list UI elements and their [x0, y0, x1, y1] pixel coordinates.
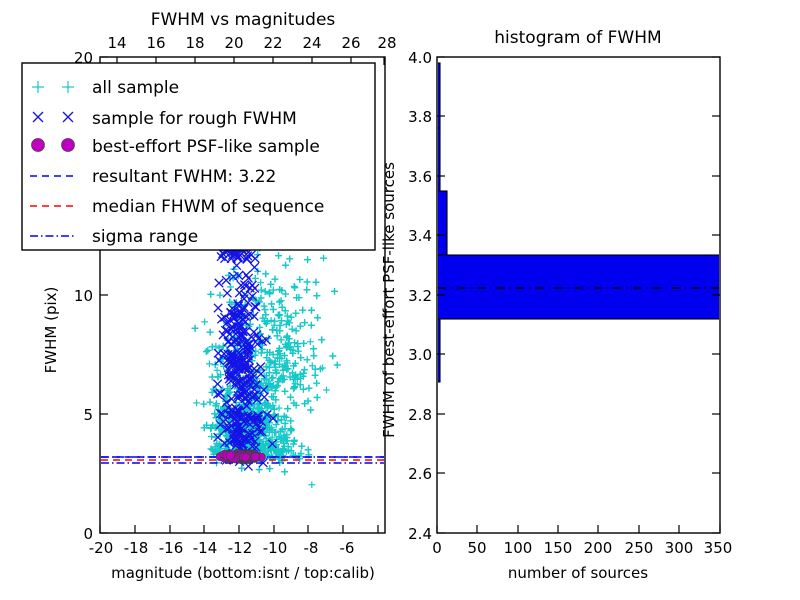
x-tick-label: 150: [544, 539, 573, 557]
x-tick-label: 0: [432, 539, 442, 557]
left-bottom-ticks: [100, 525, 378, 533]
right-panel: histogram of FWHM: [380, 28, 785, 582]
x-tick-label: 200: [584, 539, 613, 557]
legend-label: sample for rough FWHM: [92, 109, 297, 129]
legend-label: best-effort PSF-like sample: [92, 137, 320, 157]
left-panel-top-tick-labels: 14 16 18 20 22 24 26 28: [107, 34, 396, 52]
right-x-ticks: [437, 525, 720, 533]
y-tick-label: 4.0: [408, 49, 432, 67]
right-panel-xlabel: number of sources: [508, 564, 648, 582]
legend: all sample sample for rough FWHM best-: [22, 63, 375, 250]
legend-label: sigma range: [92, 227, 198, 247]
x-tick-label: 300: [665, 539, 694, 557]
y-tick-label: 3.2: [408, 287, 432, 305]
figure-canvas: FWHM vs magnitudes 14 16 18 20 22 24 26 …: [0, 0, 800, 600]
left-panel-bottom-tick-labels: -20 -18 -16 -14 -12 -10 -8 -6: [89, 539, 355, 557]
left-panel-title: FWHM vs magnitudes: [151, 10, 336, 30]
right-panel-y-tick-labels: 2.4 2.6 2.8 3.0 3.2 3.4 3.6 3.8 4.0: [408, 49, 432, 543]
top-tick-label: 26: [341, 34, 360, 52]
histogram-bar: [437, 191, 447, 255]
y-tick-label: 5: [83, 406, 93, 424]
plot-svg: FWHM vs magnitudes 14 16 18 20 22 24 26 …: [0, 0, 800, 600]
y-tick-label: 3.6: [408, 168, 432, 186]
left-panel-ylabel: FWHM (pix): [42, 287, 60, 374]
x-tick-label: 100: [504, 539, 533, 557]
histogram-bars: [437, 63, 785, 382]
x-tick-label: 50: [467, 539, 486, 557]
bottom-tick-label: -18: [124, 539, 149, 557]
y-tick-label: 3.8: [408, 108, 432, 126]
top-tick-label: 22: [263, 34, 282, 52]
left-panel-xlabel: magnitude (bottom:isnt / top:calib): [111, 564, 375, 582]
y-tick-label: 3.4: [408, 227, 432, 245]
top-tick-label: 28: [377, 34, 396, 52]
y-tick-label: 2.8: [408, 406, 432, 424]
top-tick-label: 24: [302, 34, 321, 52]
right-panel-title: histogram of FWHM: [494, 28, 661, 48]
y-tick-label: 2.6: [408, 465, 432, 483]
bottom-tick-label: -16: [159, 539, 184, 557]
bottom-tick-label: -10: [263, 539, 288, 557]
y-tick-label: 3.0: [408, 346, 432, 364]
x-tick-label: 250: [625, 539, 654, 557]
top-tick-label: 16: [146, 34, 165, 52]
top-tick-label: 14: [107, 34, 126, 52]
bottom-tick-label: -14: [193, 539, 218, 557]
histogram-bar: [437, 255, 785, 319]
right-panel-ylabel: FWHM of best-effort PSF-like sources: [380, 162, 398, 438]
legend-label: resultant FWHM: 3.22: [92, 167, 276, 187]
bottom-tick-label: -8: [304, 539, 319, 557]
top-tick-label: 20: [224, 34, 243, 52]
y-tick-label: 10: [74, 287, 93, 305]
legend-label: median FHWM of sequence: [92, 197, 324, 217]
bottom-tick-label: -6: [340, 539, 355, 557]
x-tick-label: 350: [704, 539, 733, 557]
top-tick-label: 18: [185, 34, 204, 52]
y-tick-label: 0: [83, 525, 93, 543]
right-panel-x-tick-labels: 0 50 100 150 200 250 300 350: [432, 539, 732, 557]
legend-label: all sample: [92, 78, 179, 98]
bottom-tick-label: -12: [228, 539, 253, 557]
y-tick-label: 2.4: [408, 525, 432, 543]
